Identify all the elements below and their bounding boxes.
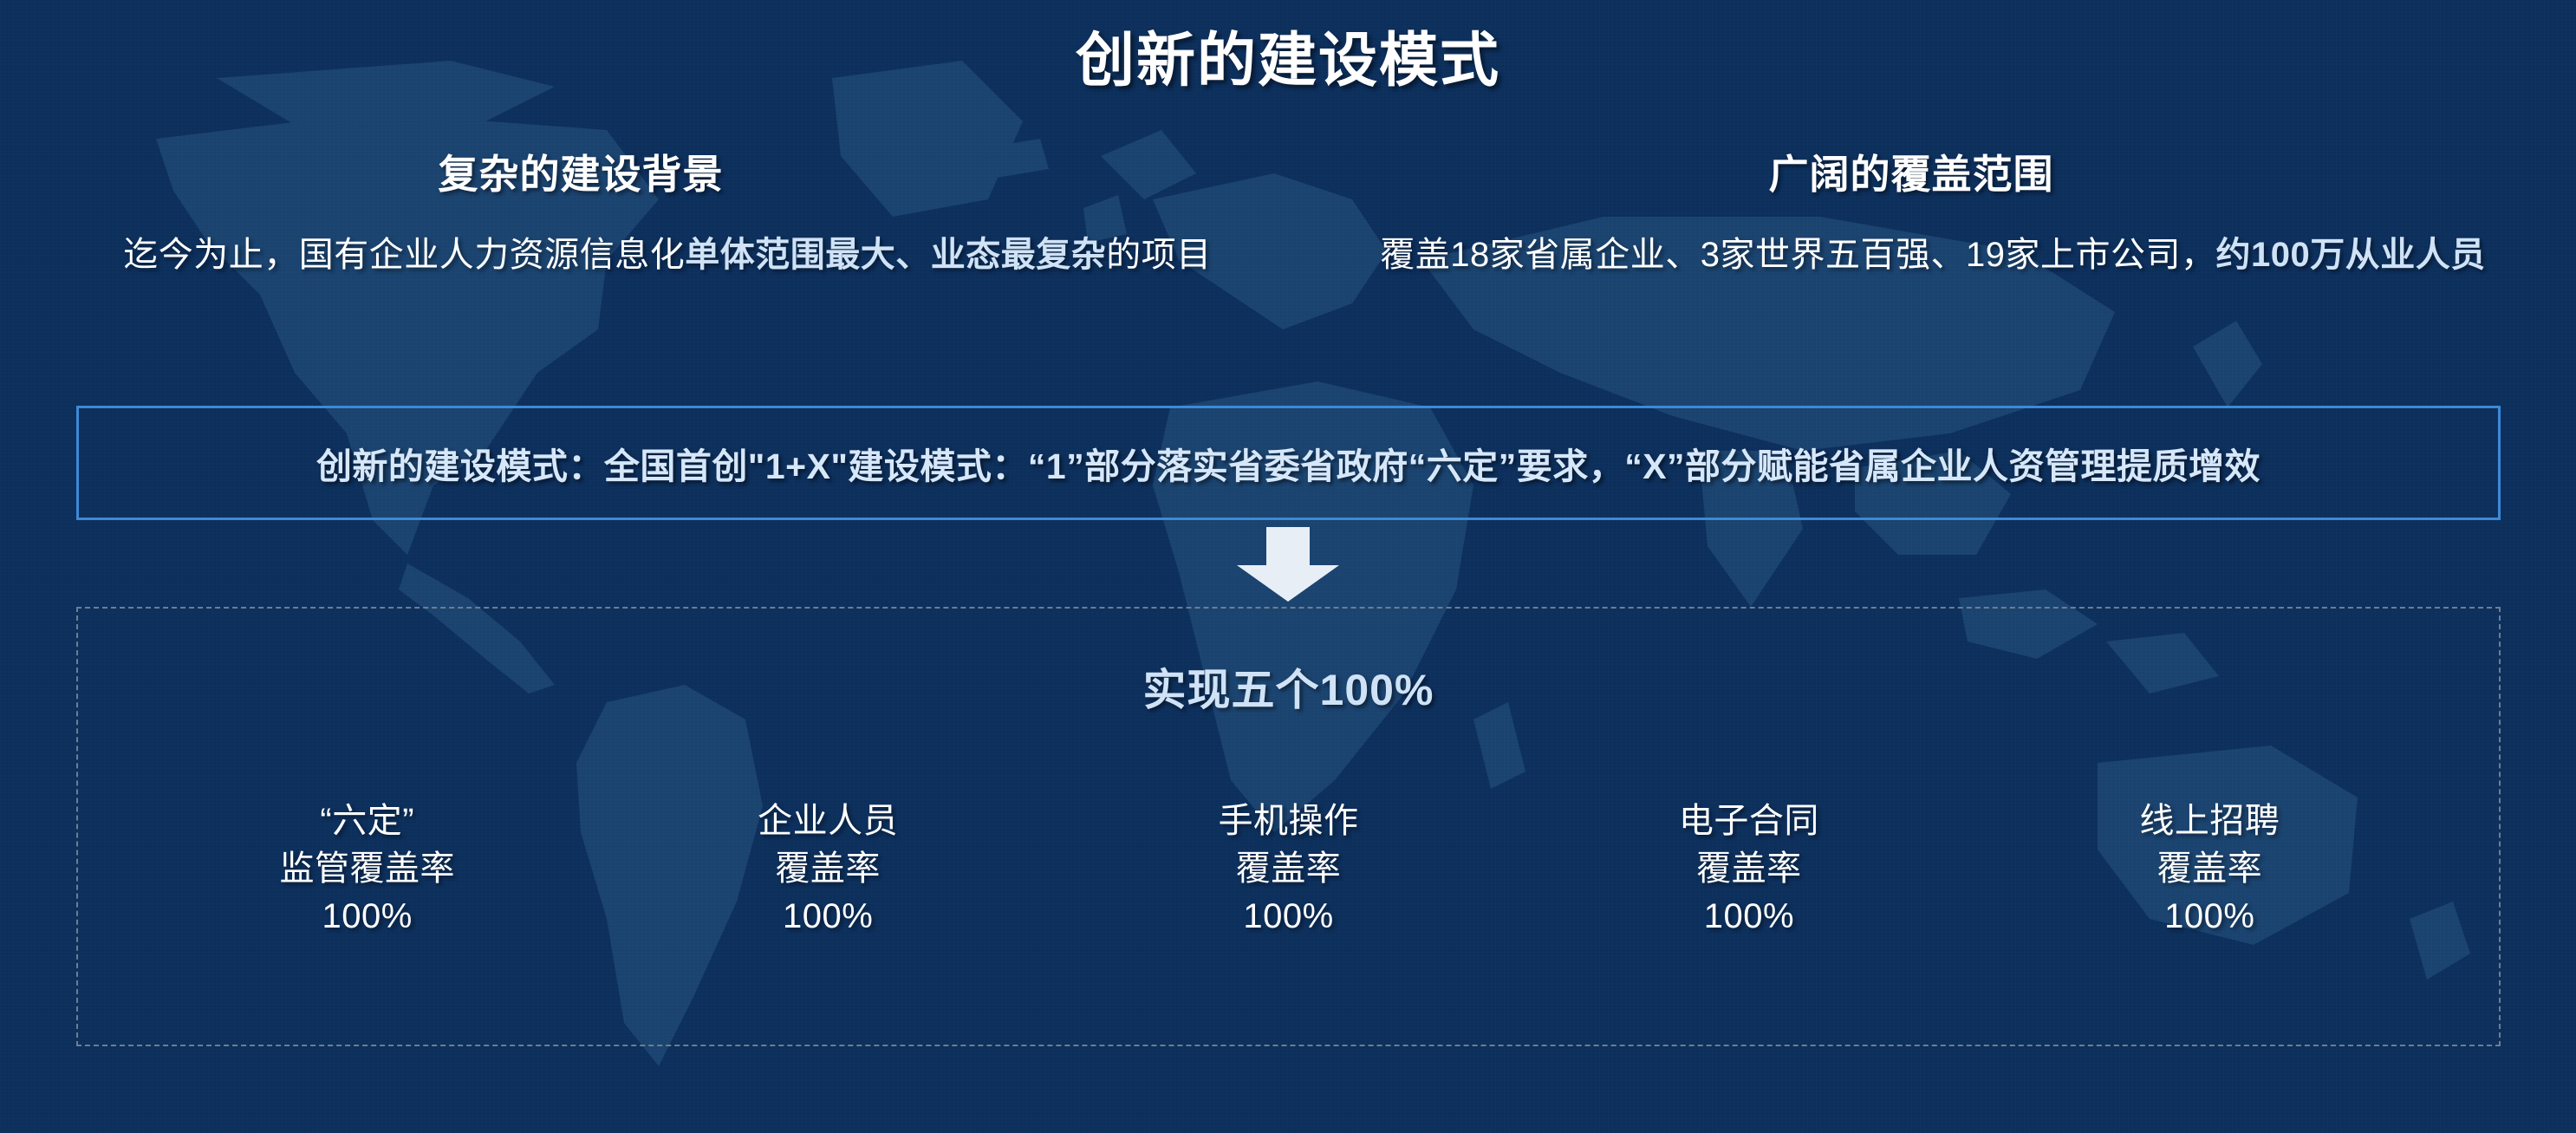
metric-label-line1: 手机操作 [1058,798,1519,845]
metric-value: 100% [137,893,597,941]
metric-item: “六定” 监管覆盖率 100% [137,798,597,941]
section-body-background: 迄今为止，国有企业人力资源信息化单体范围最大、业态最复杂的项目 [61,232,1274,278]
body-right-plain-1: 覆盖18家省属企业、3家世界五百强、19家上市公司， [1380,236,2215,274]
model-callout-box: 创新的建设模式：全国首创"1+X"建设模式：“1”部分落实省委省政府“六定”要求… [76,406,2501,520]
metric-item: 手机操作 覆盖率 100% [1058,798,1519,941]
slide-canvas: 创新的建设模式 复杂的建设背景 广阔的覆盖范围 迄今为止，国有企业人力资源信息化… [0,0,2576,1133]
section-heading-coverage: 广阔的覆盖范围 [1551,143,2271,200]
metric-label-line2: 覆盖率 [597,845,1057,893]
body-right-accent: 约100万从业人员 [2215,236,2485,274]
metric-item: 线上招聘 覆盖率 100% [1980,798,2440,941]
metric-value: 100% [1519,893,1979,941]
body-left-plain-2: 的项目 [1106,236,1212,274]
metric-label-line1: 企业人员 [597,798,1057,845]
arrow-down-icon [1237,527,1339,602]
metric-value: 100% [1058,893,1519,941]
metric-label-line2: 监管覆盖率 [137,845,597,893]
metric-row: “六定” 监管覆盖率 100% 企业人员 覆盖率 100% 手机操作 覆盖率 1… [76,798,2501,941]
metric-value: 100% [1980,893,2440,941]
results-title: 实现五个100% [76,655,2501,718]
metric-label-line1: “六定” [137,798,597,845]
section-heading-background: 复杂的建设背景 [147,143,1014,200]
metric-label-line2: 覆盖率 [1980,845,2440,893]
page-title: 创新的建设模式 [0,12,2576,98]
metric-value: 100% [597,893,1057,941]
metric-item: 电子合同 覆盖率 100% [1519,798,1979,941]
section-body-coverage: 覆盖18家省属企业、3家世界五百强、19家上市公司，约100万从业人员 [1326,232,2540,278]
model-callout-text: 创新的建设模式：全国首创"1+X"建设模式：“1”部分落实省委省政府“六定”要求… [316,437,2261,489]
body-left-plain-1: 迄今为止，国有企业人力资源信息化 [123,236,685,274]
metric-label-line1: 电子合同 [1519,798,1979,845]
metric-item: 企业人员 覆盖率 100% [597,798,1057,941]
metric-label-line2: 覆盖率 [1519,845,1979,893]
metric-label-line1: 线上招聘 [1980,798,2440,845]
metric-label-line2: 覆盖率 [1058,845,1519,893]
body-left-accent: 单体范围最大、业态最复杂 [685,236,1106,274]
